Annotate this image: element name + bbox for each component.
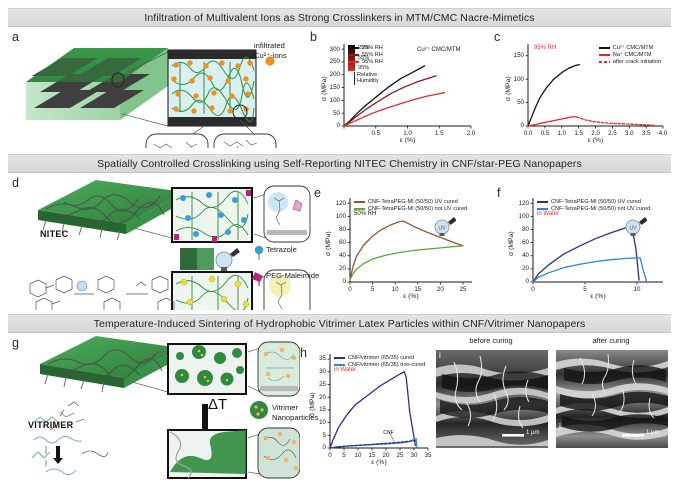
y-tick-label: 30: [306, 368, 326, 375]
series-line: [533, 258, 646, 282]
colorbar-caption: RelativeHumidity: [354, 72, 379, 85]
panel-letter-b: b: [310, 30, 317, 44]
y-tick-label: 0: [502, 122, 524, 129]
legend-item: CNF/vitrimer (65/35) non-cured: [334, 362, 425, 368]
legend-label: CNF-TetraPEG-MI (50/50) not UV cured: [551, 206, 650, 212]
legend-swatch: [599, 47, 610, 49]
peg-maleimide-label: PEG-Maleimide: [266, 271, 319, 280]
legend-item: CNF/vitrimer (65/35) cured: [334, 355, 425, 361]
legend-swatch: [348, 54, 359, 56]
x-tick-label: 4.0: [652, 130, 674, 137]
legend-item: Cu²⁺ CMC/MTM: [599, 45, 661, 51]
x-axis-label: ε (%): [350, 293, 472, 300]
x-axis-label: ε (%): [330, 459, 428, 466]
y-tick-label: 50: [318, 110, 340, 117]
scale-text-right: 1 µm: [646, 430, 659, 436]
panel-letter-e: e: [314, 186, 321, 200]
legend-label: CNF/vitrimer (65/35) non-cured: [348, 362, 425, 368]
y-tick-label: 100: [505, 213, 529, 220]
x-tick-label: 20: [429, 286, 451, 293]
nacre-block: [26, 48, 168, 120]
chart-legend: Cu²⁺ CMC/MTMNa⁺ CMC/MTMafter crack initi…: [599, 45, 661, 66]
legend-label: Cu²⁺ CMC/MTM: [613, 45, 654, 51]
svg-text:UV: UV: [630, 226, 638, 232]
clay-tag: clay: [222, 165, 229, 170]
legend-swatch: [537, 208, 548, 210]
legend-item: 95% RH: [348, 59, 383, 65]
y-tick-label: 10: [306, 419, 326, 426]
panel-a-ion-label: infiltrated Cu²⁺-ions: [254, 41, 287, 61]
network-box-uncured: [172, 188, 252, 242]
chart-panel-c: 0501001500.00.51.01.52.02.53.03.54.0σ (M…: [502, 36, 670, 148]
chart-legend: CNF/vitrimer (65/35) curedCNF/vitrimer (…: [334, 355, 425, 369]
y-tick-label: 120: [505, 200, 529, 207]
x-tick-label: 5: [362, 286, 384, 293]
series-line: [350, 246, 463, 280]
panel-a-zoom-box: [168, 50, 256, 126]
ion-label-line2: Cu²⁺-ions: [254, 51, 287, 61]
sem-caption-left: before curing: [436, 336, 546, 345]
legend-item: CNF-TetraPEG-MI (50/50) not UV cured: [537, 206, 650, 212]
y-axis-label: σ (MPa): [309, 392, 316, 417]
x-tick-label: 1.5: [428, 130, 450, 137]
legend-swatch: [354, 201, 365, 203]
panel-d-svg: [16, 176, 312, 310]
legend-label: CNF-TetraPEG-MI (50/50) UV cured: [551, 199, 641, 205]
legend-item: 25% RH: [348, 45, 383, 51]
chart-panel-f: 0204060801001200510σ (MPa)ε (%)in WaterC…: [505, 190, 671, 308]
panel-letter-f: f: [497, 186, 500, 200]
x-axis-label: ε (%): [344, 137, 471, 144]
legend-swatch: [334, 357, 345, 359]
y-tick-label: 20: [322, 265, 346, 272]
x-tick-label: 2.0: [460, 130, 482, 137]
section-title-1: Infiltration of Multivalent Ions as Stro…: [144, 12, 534, 24]
chart-legend: CNF-TetraPEG-MI (50/50) UV curedCNF-Tetr…: [537, 199, 650, 213]
legend-item: CNF-TetraPEG-MI (50/50) UV cured: [537, 199, 650, 205]
legend-label: Na⁺ CMC/MTM: [613, 52, 652, 58]
maleimide-legend-icon: [252, 272, 263, 286]
y-axis-label: σ (MPa): [508, 231, 515, 256]
x-tick-label: 5: [574, 286, 596, 293]
molecular-callout-uncured: [264, 186, 310, 242]
section-banner-3: Temperature-Induced Sintering of Hydroph…: [8, 314, 671, 333]
x-tick-label: 0: [522, 286, 544, 293]
nitec-reaction-scheme: [30, 276, 174, 310]
y-tick-label: 150: [502, 52, 524, 59]
vitrimer-label: VITRIMER: [28, 420, 73, 430]
series-line: [344, 93, 444, 126]
y-tick-label: 0: [306, 444, 326, 451]
legend-label: after crack initiation: [613, 59, 661, 65]
molecule-callout-right: [214, 134, 276, 148]
series-line: [330, 441, 415, 448]
chart-panel-e: 0204060801001200510152025σ (MPa)ε (%)50%…: [322, 190, 480, 308]
chart-legend: 25% RH55% RH95% RH: [348, 45, 383, 66]
y-tick-label: 300: [318, 46, 340, 53]
sem-panel-letter-j: j: [559, 422, 561, 431]
panel-g-schematic: [16, 334, 300, 480]
uv-bulb-small: [77, 281, 87, 291]
vitrimer-structure-sketch: [32, 402, 108, 475]
legend-swatch: [537, 201, 548, 203]
ion-label-line1: infiltrated: [254, 41, 287, 51]
x-tick-label: 0: [339, 286, 361, 293]
svg-text:UV: UV: [439, 226, 447, 232]
colorbar-caption-line2: Humidity: [357, 78, 379, 84]
network-box-cured: [172, 272, 252, 310]
molecule-callout-left: [146, 134, 208, 148]
sem-image-after-curing: j 1 µm: [556, 350, 668, 448]
sem-image-before-curing: i 1 µm: [436, 350, 548, 448]
y-tick-label: 0: [322, 278, 346, 285]
section-title-3: Temperature-Induced Sintering of Hydroph…: [94, 318, 586, 330]
x-tick-label: 0.5: [365, 130, 387, 137]
section-banner-2: Spatially Controlled Crosslinking using …: [8, 154, 671, 173]
series-line: [330, 372, 415, 448]
chart-annotation: Cu²⁺ CMC/MTM: [417, 46, 461, 53]
tetrazole-label: Tetrazole: [266, 245, 297, 254]
chart-legend: CNF-TetraPEG-MI (50/50) UV curedCNF-Tetr…: [354, 199, 467, 213]
x-tick-label: 25: [452, 286, 474, 293]
x-tick-label: 35: [417, 452, 439, 459]
delta-t-symbol: ΔT: [208, 396, 227, 413]
latex-particle-box: [168, 344, 246, 394]
chart-panel-b: 0501001502002503000.51.01.52.0σ (MPa)ε (…: [318, 36, 478, 148]
x-axis-label: ε (%): [528, 137, 663, 144]
x-tick-label: 10: [384, 286, 406, 293]
scale-bar-right: [622, 434, 644, 437]
nitec-label: NITEC: [40, 229, 69, 239]
legend-swatch: [354, 208, 365, 210]
panel-g-svg: [16, 334, 300, 480]
y-tick-label: 100: [322, 213, 346, 220]
uv-lamp-icon: UV: [434, 216, 456, 236]
legend-item: after crack initiation: [599, 59, 661, 65]
y-tick-label: 25: [306, 381, 326, 388]
y-tick-label: 120: [322, 200, 346, 207]
sem-caption-left-wrap: before curing: [436, 336, 546, 348]
x-tick-label: 1.0: [397, 130, 419, 137]
sem-caption-right-wrap: after curing: [556, 336, 666, 348]
chart-annotation: 95% RH: [534, 45, 556, 51]
y-tick-label: 0: [318, 122, 340, 129]
sem-panel-letter-i: i: [439, 351, 441, 360]
cnf-vitrimer-sheet: [40, 336, 180, 392]
y-tick-label: 35: [306, 355, 326, 362]
tetrazole-legend-icon: [255, 246, 263, 260]
legend-label: 25% RH: [362, 45, 383, 51]
x-tick-label: 15: [407, 286, 429, 293]
scale-text-left: 1 µm: [526, 430, 539, 436]
sem-caption-right: after curing: [556, 336, 666, 345]
legend-swatch: [348, 61, 359, 63]
series-line: [528, 117, 577, 126]
legend-item: CNF-TetraPEG-MI (50/50) UV cured: [354, 199, 467, 205]
x-axis-label: ε (%): [533, 293, 663, 300]
legend-swatch: [599, 61, 610, 63]
y-axis-label: σ (MPa): [505, 76, 512, 101]
vitrimer-nanoparticle-legend-icon: [250, 401, 268, 419]
x-tick-label: 10: [626, 286, 648, 293]
legend-label: CNF-TetraPEG-MI (50/50) not UV cured: [368, 206, 467, 212]
legend-item: CNF-TetraPEG-MI (50/50) not UV cured: [354, 206, 467, 212]
legend-swatch: [334, 364, 345, 366]
vitrimer-molecular-callout-bottom: [258, 428, 300, 478]
legend-swatch: [599, 54, 610, 56]
legend-label: 95% RH: [362, 59, 383, 65]
chart-panel-h: 0510152025303505101520253035σ (MPa)ε (%)…: [306, 346, 436, 474]
legend-item: 55% RH: [348, 52, 383, 58]
figure-root: Infiltration of Multivalent Ions as Stro…: [0, 0, 679, 481]
section-banner-1: Infiltration of Multivalent Ions as Stro…: [8, 8, 671, 27]
uv-lamp-icon: UV: [625, 216, 647, 236]
y-axis-label: σ (MPa): [321, 76, 328, 101]
series-line: [577, 117, 655, 125]
legend-swatch: [348, 47, 359, 49]
scale-bar-left: [502, 434, 524, 437]
y-tick-label: 0: [505, 278, 529, 285]
panel-d-schematic: [16, 176, 312, 310]
sintered-box: [168, 430, 246, 478]
section-title-2: Spatially Controlled Crosslinking using …: [97, 158, 582, 170]
vitrimer-molecular-callout-top: [258, 342, 300, 396]
panel-letter-c: c: [494, 30, 500, 44]
y-axis-label: σ (MPa): [325, 231, 332, 256]
uv-lamp-icon: [216, 248, 240, 271]
y-tick-label: 250: [318, 58, 340, 65]
y-tick-label: 20: [505, 265, 529, 272]
y-tick-label: 5: [306, 432, 326, 439]
series-line: [533, 226, 639, 282]
legend-item: Na⁺ CMC/MTM: [599, 52, 661, 58]
legend-label: CNF-TetraPEG-MI (50/50) UV cured: [368, 199, 458, 205]
inline-series-label: CNF: [383, 430, 394, 436]
legend-label: CNF/vitrimer (65/35) cured: [348, 355, 414, 361]
legend-label: 55% RH: [362, 52, 383, 58]
